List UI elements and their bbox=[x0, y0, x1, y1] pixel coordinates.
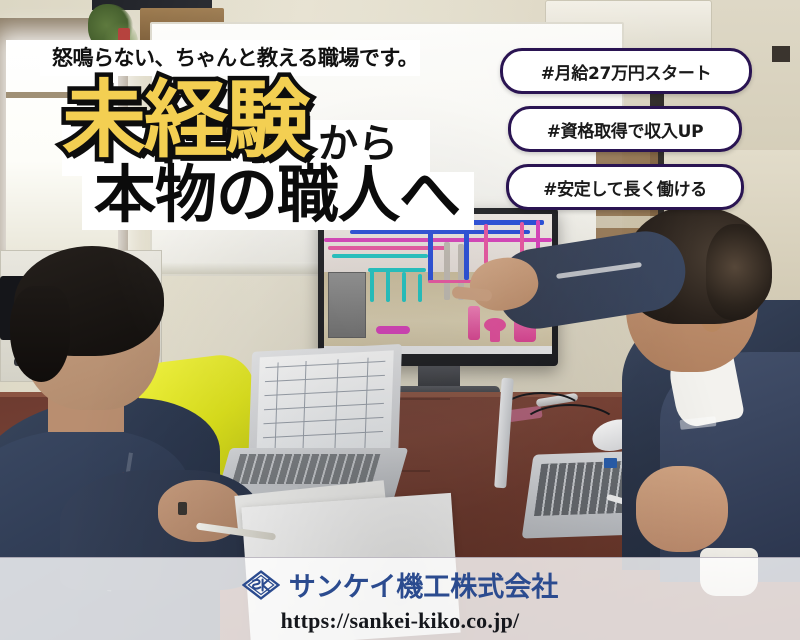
person-right-typing-hand bbox=[636, 466, 728, 552]
company-name: サンケイ機工株式会社 bbox=[289, 565, 558, 604]
cad-pipe bbox=[402, 272, 406, 302]
person-left-ring bbox=[178, 502, 187, 515]
cad-pipe bbox=[464, 232, 469, 280]
cad-pipe bbox=[418, 274, 422, 302]
hashtag-badge-salary[interactable]: #月給27万円スタート bbox=[500, 48, 752, 94]
laptop-left-screen bbox=[256, 350, 393, 459]
hashtag-badge-list: #月給27万円スタート #資格取得で収入UP #安定して長く働ける bbox=[500, 48, 762, 210]
cad-pipe bbox=[370, 270, 374, 302]
headline-line-2: 本物の職人へ bbox=[94, 164, 460, 226]
hashtag-badge-qualification[interactable]: #資格取得で収入UP bbox=[508, 106, 742, 152]
brand-row: サンケイ機工株式会社 bbox=[0, 565, 800, 604]
footer-bar: サンケイ機工株式会社 https://sankei-kiko.co.jp/ bbox=[0, 557, 800, 640]
company-url[interactable]: https://sankei-kiko.co.jp/ bbox=[0, 608, 800, 634]
cad-pipe bbox=[386, 270, 390, 302]
cad-pipe bbox=[484, 224, 488, 264]
headline-highlight: 未経験 bbox=[62, 78, 308, 162]
sankei-diamond-sk-logo-icon bbox=[242, 570, 280, 600]
laptop-right-sticker bbox=[604, 458, 617, 468]
hashtag-badge-stability[interactable]: #安定して長く働ける bbox=[506, 164, 744, 210]
cad-pipe bbox=[444, 242, 450, 300]
cad-pipe bbox=[332, 254, 428, 258]
cad-pipe bbox=[324, 238, 552, 242]
cad-floor-marking bbox=[376, 326, 410, 334]
person-left-hair-side bbox=[10, 286, 70, 382]
cad-pipe bbox=[428, 232, 433, 282]
cad-equipment-cabinet bbox=[328, 272, 366, 338]
laptop-left-keyboard bbox=[232, 454, 381, 484]
cad-tank bbox=[468, 306, 480, 340]
cad-valve-stem bbox=[490, 326, 500, 342]
tagline: 怒鳴らない、ちゃんと教える職場です。 bbox=[52, 42, 424, 74]
cad-pipe bbox=[368, 268, 426, 272]
recruitment-banner: 怒鳴らない、ちゃんと教える職場です。 未経験 から 本物の職人へ #月給27万円… bbox=[0, 0, 800, 640]
main-monitor-stand bbox=[418, 366, 460, 388]
dark-block bbox=[772, 46, 790, 62]
